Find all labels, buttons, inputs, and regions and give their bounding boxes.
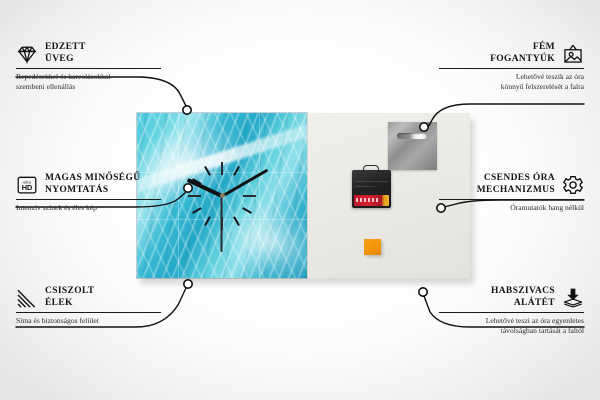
callout-foam-pad[interactable]: HABSZIVACS ALÁTÉT Lehetővé teszi az óra … [439, 286, 584, 335]
callout-rule [16, 199, 161, 200]
callout-title-line2: NYOMTATÁS [45, 185, 140, 197]
product-image [137, 113, 470, 278]
callout-title-line1: EDZETT [45, 42, 86, 54]
callout-rule [16, 312, 161, 313]
callout-metal-handles[interactable]: FÉM FOGANTYÚK Lehetővé teszik az óra kön… [439, 42, 584, 91]
callout-title-line1: HABSZIVACS [491, 286, 555, 298]
hatch-lines-icon [16, 287, 38, 309]
foam-pad-arrow-icon [562, 287, 584, 309]
callout-header: FÉM FOGANTYÚK [439, 42, 584, 65]
callout-header: HABSZIVACS ALÁTÉT [439, 286, 584, 309]
picture-hanger-icon [562, 43, 584, 65]
battery-label [356, 198, 378, 202]
callout-header: EDZETT ÜVEG [16, 42, 161, 65]
callout-header: CSENDES ÓRA MECHANIZMUS [439, 173, 584, 196]
gear-icon [562, 174, 584, 196]
callout-desc-line1: Lehetővé teszik az óra [439, 72, 584, 82]
callout-quiet-mechanism[interactable]: CSENDES ÓRA MECHANIZMUS Óramutatók hang … [439, 173, 584, 213]
callout-desc-line2: távolságban tartását a faltól [439, 326, 584, 336]
battery [354, 195, 389, 206]
callout-header: CSISZOLT ÉLEK [16, 286, 161, 309]
callout-header: ultra HD MAGAS MINŐSÉGŰ NYOMTATÁS [16, 173, 161, 196]
callout-title-line2: FOGANTYÚK [490, 54, 555, 66]
foam-spacer-pad [364, 239, 381, 255]
infographic-canvas: EDZETT ÜVEG Repedésekkel és karcolásokka… [0, 0, 600, 400]
callout-tempered-glass[interactable]: EDZETT ÜVEG Repedésekkel és karcolásokka… [16, 42, 161, 91]
callout-title-line1: CSISZOLT [45, 286, 94, 298]
svg-text:HD: HD [22, 183, 33, 192]
callout-rule [439, 68, 584, 69]
callout-title-line1: MAGAS MINŐSÉGŰ [45, 173, 140, 185]
callout-rule [439, 312, 584, 313]
hanger-slot [397, 133, 427, 139]
callout-high-quality-print[interactable]: ultra HD MAGAS MINŐSÉGŰ NYOMTATÁS Intenz… [16, 173, 161, 213]
clock-center-cap [220, 193, 225, 198]
callout-desc-line1: Óramutatók hang nélkül [439, 203, 584, 213]
callout-polished-edges[interactable]: CSISZOLT ÉLEK Sima és biztonságos felüle… [16, 286, 161, 326]
mechanism-hook [363, 165, 379, 172]
callout-title-line2: ÉLEK [45, 298, 94, 310]
callout-rule [16, 68, 161, 69]
callout-title-line2: MECHANIZMUS [477, 185, 555, 197]
callout-title-line1: CSENDES ÓRA [477, 173, 555, 185]
callout-title-line2: ÜVEG [45, 54, 86, 66]
callout-desc-line1: Repedésekkel és karcolásokkal [16, 72, 161, 82]
clock-mechanism [352, 170, 391, 208]
clock-front-face [137, 113, 307, 278]
metal-hanger-plate [388, 122, 437, 170]
callout-rule [439, 199, 584, 200]
ultra-hd-icon: ultra HD [16, 174, 38, 196]
callout-desc-line1: Sima és biztonságos felület [16, 316, 161, 326]
callout-desc-line2: szembeni ellenállás [16, 82, 161, 92]
diamond-icon [16, 43, 38, 65]
callout-title-line1: FÉM [490, 42, 555, 54]
callout-desc-line1: Intenzív színek és éles kép [16, 203, 161, 213]
callout-desc-line1: Lehetővé teszi az óra egyenletes [439, 316, 584, 326]
mechanism-seam [355, 181, 388, 182]
callout-desc-line2: könnyű felszerelését a falra [439, 82, 584, 92]
connector-ring-foam [419, 288, 427, 296]
mechanism-seam-2 [355, 186, 375, 187]
callout-title-line2: ALÁTÉT [491, 298, 555, 310]
